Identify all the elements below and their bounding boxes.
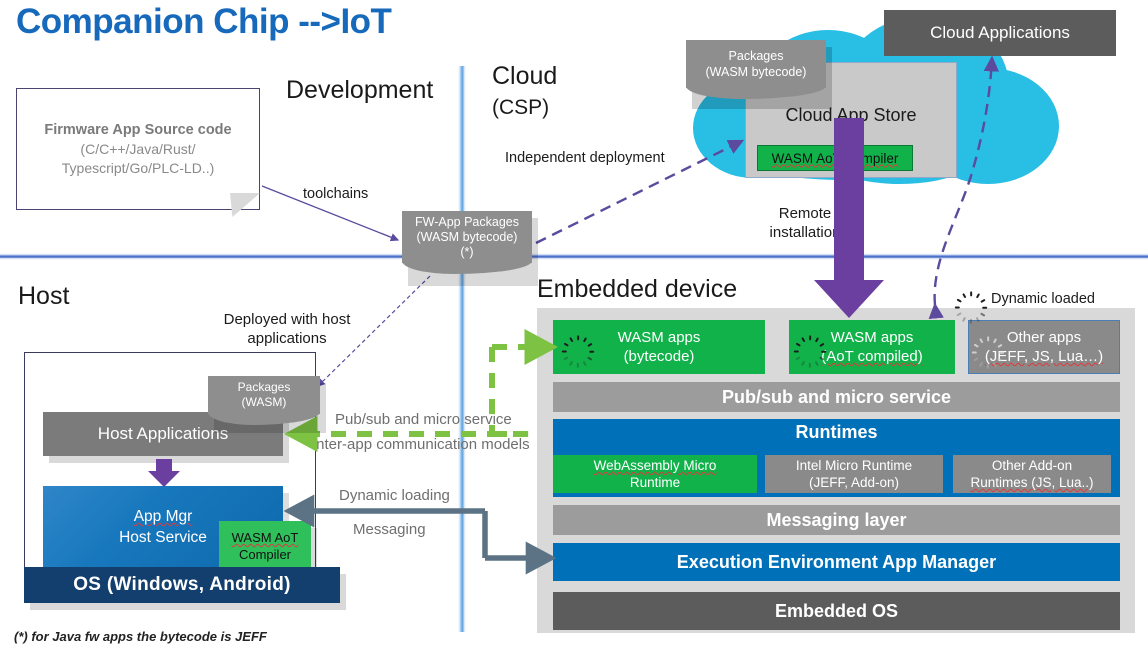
embedded-runtime-0-l2: Runtime bbox=[630, 474, 680, 491]
fw-packages-line-1: FW-App Packages bbox=[415, 215, 519, 230]
source-heading: Firmware App Source code bbox=[44, 120, 231, 140]
firmware-source-code-box: Firmware App Source code (C/C++/Java/Rus… bbox=[16, 88, 260, 210]
embedded-app-wasm-bytecode: WASM apps (bytecode) bbox=[553, 320, 765, 374]
vertical-divider bbox=[458, 66, 466, 632]
app-mgr-line-2: Host Service bbox=[119, 527, 207, 548]
embedded-runtime-1-l2: (JEFF, Add-on) bbox=[809, 474, 899, 491]
embedded-app-2-sub: (JEFF, JS, Lua…) bbox=[985, 347, 1103, 366]
embedded-app-other: Other apps (JEFF, JS, Lua…) bbox=[968, 320, 1120, 374]
footnote: (*) for Java fw apps the bytecode is JEF… bbox=[14, 629, 267, 644]
page-title: Companion Chip -->IoT bbox=[16, 2, 391, 42]
source-line-1: (C/C++/Java/Rust/ bbox=[80, 140, 195, 159]
dynamic-loaded-legend-icon bbox=[959, 289, 983, 313]
embedded-runtime-2-l1: Other Add-on bbox=[992, 457, 1072, 474]
section-heading-embedded-device: Embedded device bbox=[537, 275, 737, 304]
host-os-label: OS (Windows, Android) bbox=[73, 574, 291, 596]
embedded-runtime-intel: Intel Micro Runtime (JEFF, Add-on) bbox=[765, 455, 943, 493]
label-independent-deployment: Independent deployment bbox=[505, 150, 665, 166]
label-deployed-with-host-applications: Deployed with host applications bbox=[212, 310, 362, 348]
embedded-pubsub-band: Pub/sub and micro service bbox=[553, 382, 1120, 412]
embedded-runtime-other: Other Add-on Runtimes (JS, Lua..) bbox=[953, 455, 1111, 493]
section-heading-host: Host bbox=[18, 282, 69, 311]
cloud-packages-line-1: Packages bbox=[729, 48, 784, 64]
embedded-runtimes-title: Runtimes bbox=[553, 419, 1120, 445]
embedded-app-0-sub: (bytecode) bbox=[624, 347, 695, 366]
embedded-app-manager-label: Execution Environment App Manager bbox=[677, 552, 996, 573]
label-pubsub-and-micro-service: Pub/sub and micro service bbox=[335, 411, 512, 428]
embedded-app-manager-band: Execution Environment App Manager bbox=[553, 543, 1120, 581]
embedded-app-1-sub: (AoT compiled) bbox=[821, 347, 922, 366]
embedded-app-1-name: WASM apps bbox=[831, 328, 914, 347]
dynamic-loaded-icon bbox=[977, 335, 999, 357]
cloud-aot-compiler-label: WASM AoT Compiler bbox=[772, 151, 899, 166]
host-packages-line-2: (WASM) bbox=[242, 395, 287, 410]
host-aot-line-2: Compiler bbox=[239, 546, 291, 563]
app-mgr-line-1: App Mgr bbox=[134, 506, 193, 527]
label-dynamic-loading: Dynamic loading bbox=[339, 487, 450, 504]
embedded-runtime-0-l1: WebAssembly Micro bbox=[594, 458, 717, 473]
embedded-messaging-layer-band: Messaging layer bbox=[553, 505, 1120, 535]
cloud-packages-line-2: (WASM bytecode) bbox=[706, 64, 807, 80]
host-wasm-aot-compiler-box: WASM AoT Compiler bbox=[219, 521, 311, 571]
embedded-messaging-label: Messaging layer bbox=[766, 510, 906, 531]
host-packages-line-1: Packages bbox=[238, 380, 291, 395]
fw-packages-line-2: (WASM bytecode) bbox=[417, 230, 518, 245]
horizontal-divider bbox=[0, 253, 1148, 260]
cloud-wasm-aot-compiler-box: WASM AoT Compiler bbox=[757, 145, 913, 171]
host-aot-line-1: WASM AoT bbox=[232, 529, 299, 546]
host-applications-label: Host Applications bbox=[98, 424, 228, 444]
embedded-app-2-name: Other apps bbox=[1007, 328, 1081, 347]
label-remote-installation: Remote installation bbox=[768, 204, 842, 242]
embedded-pubsub-label: Pub/sub and micro service bbox=[722, 387, 951, 408]
embedded-os-label: Embedded OS bbox=[775, 601, 898, 622]
embedded-runtime-2-l2: Runtimes (JS, Lua..) bbox=[970, 475, 1093, 490]
source-line-2: Typescript/Go/PLC-LD..) bbox=[62, 159, 215, 178]
section-subheading-csp: (CSP) bbox=[492, 96, 549, 120]
section-heading-development: Development bbox=[286, 76, 433, 105]
embedded-app-0-name: WASM apps bbox=[618, 328, 701, 347]
label-toolchains: toolchains bbox=[303, 186, 368, 202]
host-packages-callout: Packages (WASM) bbox=[208, 376, 320, 424]
label-dynamic-loaded: Dynamic loaded bbox=[991, 291, 1095, 307]
cloud-applications-box: Cloud Applications bbox=[884, 10, 1116, 56]
embedded-app-wasm-aot: WASM apps (AoT compiled) bbox=[789, 320, 955, 374]
fw-app-packages-callout: FW-App Packages (WASM bytecode) (*) bbox=[402, 211, 532, 273]
embedded-runtime-1-l1: Intel Micro Runtime bbox=[796, 457, 912, 474]
dynamic-loaded-icon bbox=[567, 334, 589, 356]
dynamic-loaded-icon bbox=[799, 334, 821, 356]
label-inter-app-communication-models: Inter-app communication models bbox=[312, 436, 530, 453]
cloud-packages-callout: Packages (WASM bytecode) bbox=[686, 40, 826, 100]
fw-packages-line-3: (*) bbox=[460, 245, 473, 260]
cloud-applications-label: Cloud Applications bbox=[930, 23, 1070, 43]
label-messaging: Messaging bbox=[353, 521, 426, 538]
embedded-runtime-wamr: WebAssembly Micro Runtime bbox=[553, 455, 757, 493]
section-heading-cloud: Cloud bbox=[492, 62, 557, 91]
host-os-bar: OS (Windows, Android) bbox=[24, 567, 340, 603]
embedded-os-band: Embedded OS bbox=[553, 592, 1120, 630]
